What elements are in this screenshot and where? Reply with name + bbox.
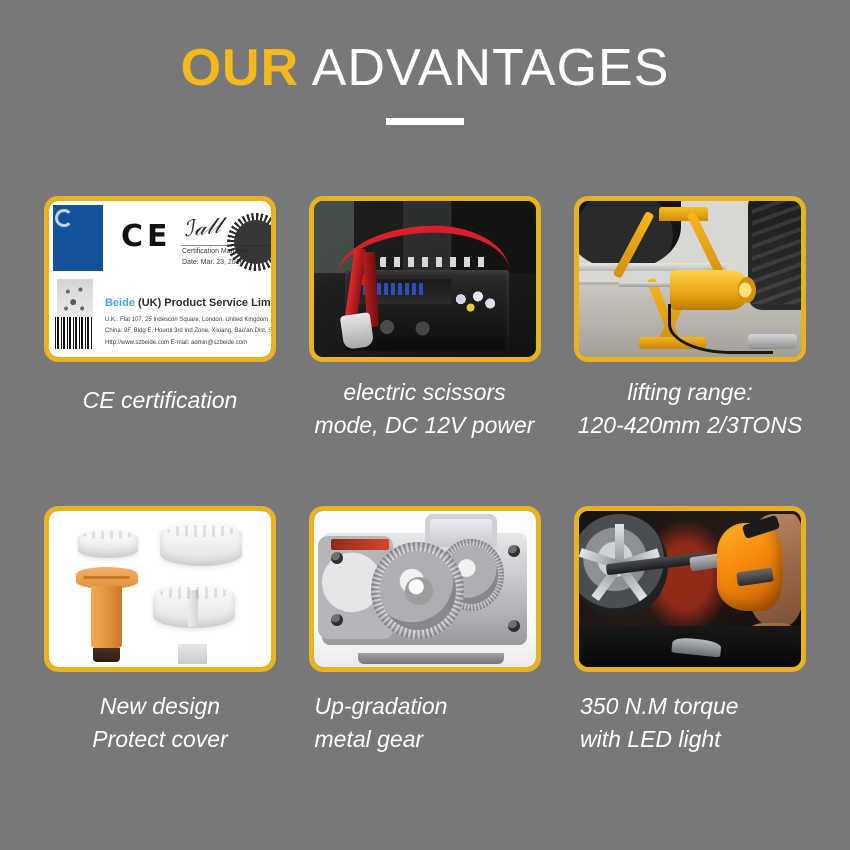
impact-wrench-scene xyxy=(579,511,801,667)
protective-cap-small xyxy=(78,530,138,558)
car-battery-with-red-clamp-photo xyxy=(309,196,541,362)
caption-line: electric scissors xyxy=(309,376,541,409)
barcode-icon xyxy=(55,317,93,349)
address-cn-line: China: 9F, Bldg E, Hourui 3rd Ind Zone, … xyxy=(105,326,271,337)
battery-handle-holes xyxy=(371,313,460,341)
car-tire-right xyxy=(748,201,801,310)
advantage-card-new-design-protect-cover: New design Protect cover xyxy=(0,506,283,806)
title-underline-bar xyxy=(386,118,464,125)
page-title-highlight: OUR xyxy=(181,39,300,97)
impact-wrench-on-wheel-photo xyxy=(574,506,806,672)
ce-mark-label: CE xyxy=(121,219,172,254)
page-title-rest: ADVANTAGES xyxy=(299,39,669,97)
battery-terminal xyxy=(340,312,374,350)
gearbox-scene xyxy=(314,511,536,667)
page-title: OUR ADVANTAGES xyxy=(0,0,850,94)
protect-cover-scene xyxy=(49,511,271,667)
caption-line: 350 N.M torque xyxy=(580,690,806,723)
advantage-card-ce-certification: CE ℐ𝒶𝓁𝓁 Certification Manager Date: Mar.… xyxy=(0,196,283,506)
advantage-caption-ce-certification: CE certification xyxy=(44,384,276,417)
advantage-caption-lifting-range: lifting range: 120-420mm 2/3TONS xyxy=(574,376,806,443)
advantage-caption-electric-scissors-mode: electric scissors mode, DC 12V power xyxy=(309,376,541,443)
battery-scene xyxy=(314,201,536,357)
caption-line: metal gear xyxy=(315,723,541,756)
company-brand-label: Beide xyxy=(105,297,135,309)
caption-line: Protect cover xyxy=(44,723,276,756)
certificate-address-block: U.K.: Flat 107, 25 Indescon Square, Lond… xyxy=(105,315,271,349)
caption-line: Up-gradation xyxy=(315,690,541,723)
housing-bolt xyxy=(331,552,343,564)
protective-cap-stem xyxy=(178,644,207,664)
company-rest-label: (UK) Product Service Limited xyxy=(135,297,271,309)
orange-screw-body xyxy=(91,586,122,648)
advantages-grid: CE ℐ𝒶𝓁𝓁 Certification Manager Date: Mar.… xyxy=(0,196,850,806)
advantage-caption-new-design-protect-cover: New design Protect cover xyxy=(44,690,276,757)
gearbox-base xyxy=(358,653,505,664)
scissor-jack-scene xyxy=(579,201,801,357)
advantage-card-electric-scissors-mode: electric scissors mode, DC 12V power xyxy=(283,196,566,506)
jack-drive-shaft xyxy=(619,282,677,287)
caption-line: CE certification xyxy=(44,384,276,417)
advantage-caption-upgradation-metal-gear: Up-gradation metal gear xyxy=(309,690,541,757)
gear-hub xyxy=(405,577,434,605)
royal-crest-icon xyxy=(57,279,93,321)
page-header: OUR ADVANTAGES xyxy=(0,0,850,170)
yellow-scissor-jack-under-car-photo xyxy=(574,196,806,362)
certificate-document: CE ℐ𝒶𝓁𝓁 Certification Manager Date: Mar.… xyxy=(49,201,271,357)
jack-top-saddle xyxy=(659,207,708,221)
battery-cell-caps xyxy=(451,288,500,316)
contact-line: Http://www.szbeide.com E-mail: admin@szb… xyxy=(105,338,271,349)
advantage-caption-torque-with-led-light: 350 N.M torque with LED light xyxy=(574,690,806,757)
advantage-card-upgradation-metal-gear: Up-gradation metal gear xyxy=(283,506,566,806)
caption-line: with LED light xyxy=(580,723,806,756)
orange-screw-tip xyxy=(93,648,120,662)
gearbox-red-stripe xyxy=(331,539,389,550)
caption-line: lifting range: xyxy=(574,376,806,409)
eu-flag-block-icon xyxy=(53,205,103,271)
protective-cap-large xyxy=(160,522,242,566)
advantage-card-lifting-range: lifting range: 120-420mm 2/3TONS xyxy=(566,196,850,506)
certificate-company-name: Beide (UK) Product Service Limited xyxy=(105,297,271,309)
power-plug xyxy=(748,334,797,350)
ce-certificate-photo: CE ℐ𝒶𝓁𝓁 Certification Manager Date: Mar.… xyxy=(44,196,276,362)
metal-gearbox-photo xyxy=(309,506,541,672)
address-uk-line: U.K.: Flat 107, 25 Indescon Square, Lond… xyxy=(105,315,271,326)
advantage-card-torque-with-led-light: 350 N.M torque with LED light xyxy=(566,506,850,806)
white-protective-covers-photo xyxy=(44,506,276,672)
caption-line: mode, DC 12V power xyxy=(309,409,541,442)
caption-line: 120-420mm 2/3TONS xyxy=(574,409,806,442)
protective-cap-with-slot xyxy=(153,584,235,628)
caption-line: New design xyxy=(44,690,276,723)
